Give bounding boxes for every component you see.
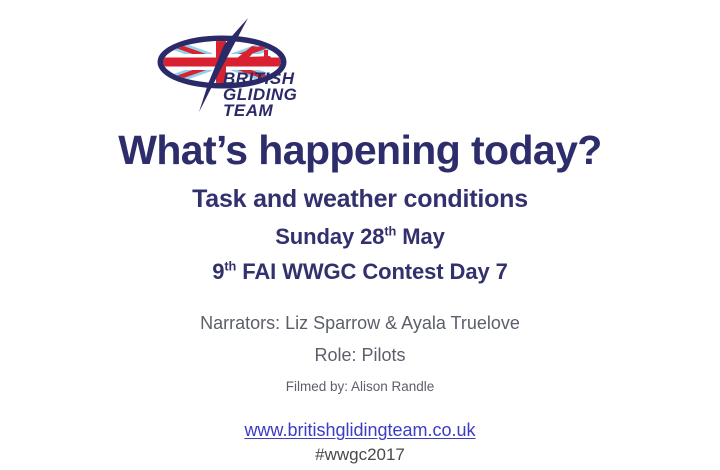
contest-suffix: FAI WWGC Contest Day 7 <box>236 259 508 284</box>
date-line: Sunday 28th May <box>0 223 720 251</box>
logo-graphic: BRITISH GLIDING TEAM <box>152 12 330 120</box>
slide-subtitle: Task and weather conditions <box>0 184 720 214</box>
date-prefix: Sunday 28 <box>275 224 384 249</box>
contest-prefix: 9 <box>212 259 224 284</box>
date-ordinal-suffix: th <box>384 224 396 239</box>
filmed-by-line: Filmed by: Alison Randle <box>0 378 720 396</box>
narrators-line: Narrators: Liz Sparrow & Ayala Truelove <box>0 312 720 335</box>
contest-day-line: 9th FAI WWGC Contest Day 7 <box>0 258 720 286</box>
date-suffix: May <box>396 224 445 249</box>
website-link-row: www.britishglidingteam.co.uk <box>0 420 720 441</box>
presentation-slide: BRITISH GLIDING TEAM What’s happening to… <box>0 0 720 470</box>
logo-text-team: TEAM <box>223 101 274 120</box>
british-gliding-team-logo: BRITISH GLIDING TEAM <box>152 12 330 120</box>
contest-ordinal-suffix: th <box>224 259 236 274</box>
page-title: What’s happening today? <box>0 128 720 174</box>
website-link[interactable]: www.britishglidingteam.co.uk <box>244 420 475 440</box>
slide-text-content: What’s happening today? Task and weather… <box>0 128 720 465</box>
role-line: Role: Pilots <box>0 344 720 367</box>
hashtag-line: #wwgc2017 <box>0 445 720 465</box>
